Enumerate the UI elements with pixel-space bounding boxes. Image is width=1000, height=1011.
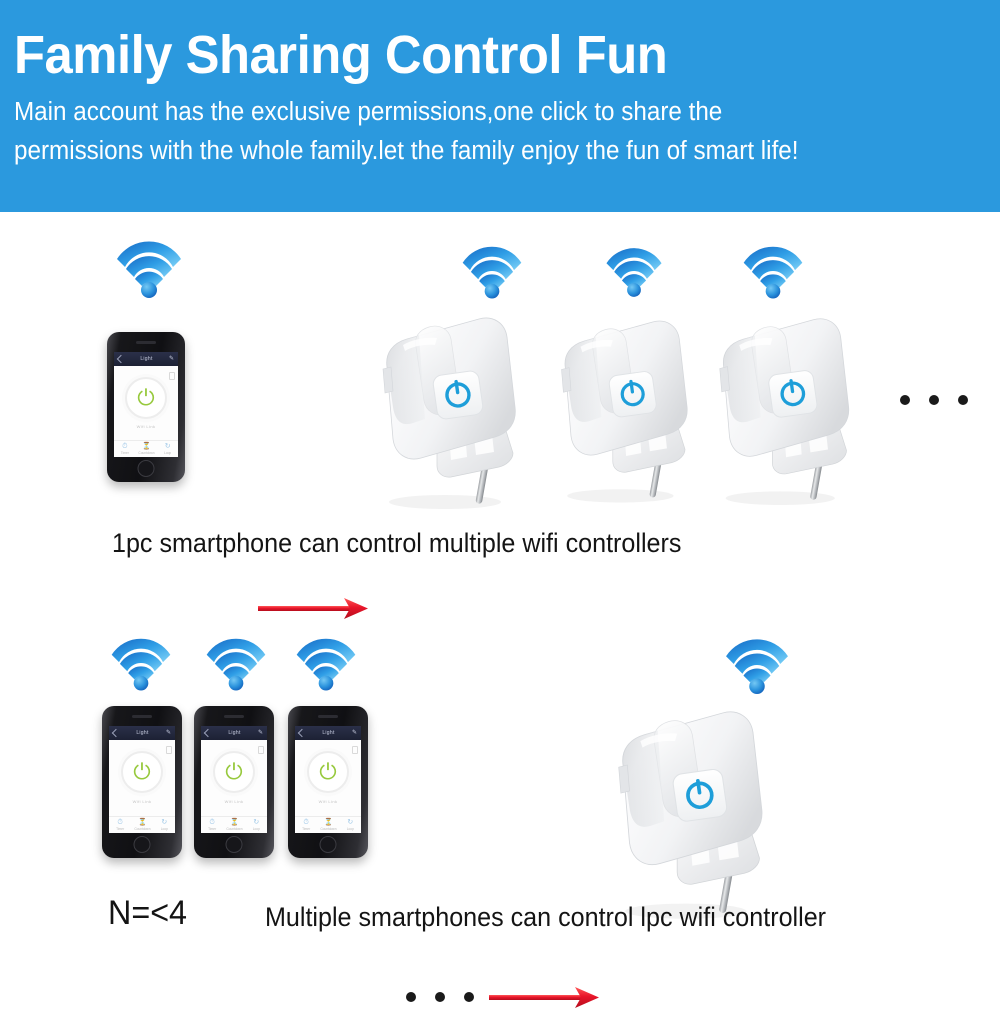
device-label: Wifi Link (137, 424, 156, 429)
phone-speaker (136, 341, 156, 344)
tab-timer[interactable]: ⏱ Timer (208, 819, 216, 831)
tab-loop[interactable]: ↻ Loop (161, 819, 168, 831)
section-bottom: Light ✎ ⏻ Wifi Link ⏱ Timer ⏳ (0, 620, 1000, 890)
tab-countdown[interactable]: ⏳ Countdown (134, 819, 150, 831)
red-arrow-right-icon (258, 596, 370, 622)
loop-icon: ↻ (161, 819, 167, 826)
smartphone-device[interactable]: Light ✎ ⏻ Wifi Link ⏱ Timer ⏳ (102, 706, 182, 858)
wifi-icon (603, 244, 665, 298)
power-icon: ⏻ (137, 387, 154, 409)
smart-plug-device[interactable] (373, 307, 533, 512)
smart-plug-device[interactable] (607, 700, 782, 922)
battery-icon (352, 746, 358, 754)
wifi-icon (293, 634, 359, 692)
tab-countdown[interactable]: ⏳ Countdown (138, 443, 154, 455)
tab-timer[interactable]: ⏱ Timer (302, 819, 310, 831)
app-topbar-title: Light (140, 356, 152, 362)
phone-screen[interactable]: Light ✎ ⏻ Wifi Link ⏱ Timer ⏳ (295, 726, 361, 833)
tab-label: Loop (161, 827, 168, 831)
header-subtitle-line-1: Main account has the exclusive permissio… (14, 94, 937, 131)
app-topbar-title: Light (136, 730, 148, 736)
app-body: ⏻ Wifi Link (295, 740, 361, 816)
app-topbar: Light ✎ (295, 726, 361, 740)
tab-label: Loop (347, 827, 354, 831)
pencil-icon[interactable]: ✎ (166, 729, 171, 736)
red-arrow-right-icon (489, 985, 601, 1011)
back-chevron-icon[interactable] (112, 729, 120, 737)
app-body: ⏻ Wifi Link (109, 740, 175, 816)
tab-label: Countdown (320, 827, 336, 831)
pencil-icon[interactable]: ✎ (352, 729, 357, 736)
tab-label: Loop (253, 827, 260, 831)
app-topbar: Light ✎ (201, 726, 267, 740)
timer-icon: ⏱ (209, 819, 214, 826)
power-toggle-button[interactable]: ⏻ (307, 751, 349, 793)
tab-countdown[interactable]: ⏳ Countdown (226, 819, 242, 831)
countdown-icon: ⏳ (230, 819, 239, 826)
app-topbar-title: Light (228, 730, 240, 736)
smartphone-device[interactable]: Light ✎ ⏻ Wifi Link ⏱ Timer ⏳ (107, 332, 185, 482)
tab-label: Countdown (138, 451, 154, 455)
phone-home-button[interactable] (134, 836, 151, 853)
smart-plug-device[interactable] (552, 309, 704, 507)
header-subtitle-line-2: permissions with the whole family.let th… (14, 133, 937, 170)
countdown-icon: ⏳ (324, 819, 333, 826)
tab-label: Loop (164, 451, 171, 455)
app-topbar-title: Light (322, 730, 334, 736)
battery-icon (258, 746, 264, 754)
tab-loop[interactable]: ↻ Loop (253, 819, 260, 831)
wifi-icon (740, 242, 806, 300)
phone-screen[interactable]: Light ✎ ⏻ Wifi Link ⏱ Timer ⏳ (114, 352, 178, 457)
app-tabbar: ⏱ Timer ⏳ Countdown ↻ Loop (201, 816, 267, 833)
power-icon: ⏻ (133, 761, 150, 783)
tab-label: Timer (208, 827, 216, 831)
tab-label: Timer (302, 827, 310, 831)
device-label: Wifi Link (133, 799, 152, 804)
phone-home-button[interactable] (320, 836, 337, 853)
phone-speaker (224, 715, 244, 718)
phone-speaker (132, 715, 152, 718)
pencil-icon[interactable]: ✎ (258, 729, 263, 736)
smartphone-device[interactable]: Light ✎ ⏻ Wifi Link ⏱ Timer ⏳ (194, 706, 274, 858)
app-tabbar: ⏱ Timer ⏳ Countdown ↻ Loop (295, 816, 361, 833)
app-topbar: Light ✎ (114, 352, 178, 366)
loop-icon: ↻ (165, 443, 171, 450)
back-chevron-icon[interactable] (204, 729, 212, 737)
timer-icon: ⏱ (122, 443, 127, 450)
phone-home-button[interactable] (226, 836, 243, 853)
wifi-icon (113, 237, 185, 299)
power-icon: ⏻ (225, 761, 242, 783)
app-body: ⏻ Wifi Link (114, 366, 178, 441)
app-tabbar: ⏱ Timer ⏳ Countdown ↻ Loop (109, 816, 175, 833)
wifi-icon (722, 635, 792, 695)
back-chevron-icon[interactable] (298, 729, 306, 737)
app-topbar: Light ✎ (109, 726, 175, 740)
phone-home-button[interactable] (138, 460, 155, 477)
section-top: Light ✎ ⏻ Wifi Link ⏱ Timer ⏳ (0, 212, 1000, 562)
battery-icon (166, 746, 172, 754)
device-label: Wifi Link (319, 799, 338, 804)
tab-timer[interactable]: ⏱ Timer (116, 819, 124, 831)
countdown-icon: ⏳ (138, 819, 147, 826)
pencil-icon[interactable]: ✎ (169, 355, 174, 362)
wifi-icon (108, 634, 174, 692)
tab-loop[interactable]: ↻ Loop (164, 443, 171, 455)
timer-icon: ⏱ (303, 819, 308, 826)
device-limit-label: N=<4 (108, 894, 187, 933)
device-label: Wifi Link (225, 799, 244, 804)
illustration-stage: Light ✎ ⏻ Wifi Link ⏱ Timer ⏳ (0, 212, 1000, 1000)
ellipsis-more-devices (900, 395, 968, 405)
back-chevron-icon[interactable] (117, 355, 125, 363)
tab-loop[interactable]: ↻ Loop (347, 819, 354, 831)
caption-bottom: Multiple smartphones can control lpc wif… (265, 902, 826, 933)
app-body: ⏻ Wifi Link (201, 740, 267, 816)
loop-icon: ↻ (347, 819, 353, 826)
smartphone-device[interactable]: Light ✎ ⏻ Wifi Link ⏱ Timer ⏳ (288, 706, 368, 858)
page-title: Family Sharing Control Fun (14, 26, 928, 84)
tab-countdown[interactable]: ⏳ Countdown (320, 819, 336, 831)
phone-screen[interactable]: Light ✎ ⏻ Wifi Link ⏱ Timer ⏳ (201, 726, 267, 833)
power-toggle-button[interactable]: ⏻ (125, 377, 167, 419)
tab-label: Timer (116, 827, 124, 831)
battery-icon (169, 372, 175, 380)
app-tabbar: ⏱ Timer ⏳ Countdown ↻ Loop (114, 440, 178, 457)
loop-icon: ↻ (253, 819, 259, 826)
power-icon: ⏻ (319, 761, 336, 783)
ellipsis-more-phones (406, 992, 474, 1002)
tab-label: Countdown (226, 827, 242, 831)
power-toggle-button[interactable]: ⏻ (121, 751, 163, 793)
header-banner: Family Sharing Control Fun Main account … (0, 0, 1000, 212)
tab-label: Timer (121, 451, 129, 455)
wifi-icon (459, 242, 525, 300)
wifi-icon (203, 634, 269, 692)
smart-plug-device[interactable] (710, 307, 866, 509)
phone-screen[interactable]: Light ✎ ⏻ Wifi Link ⏱ Timer ⏳ (109, 726, 175, 833)
tab-label: Countdown (134, 827, 150, 831)
timer-icon: ⏱ (117, 819, 122, 826)
power-toggle-button[interactable]: ⏻ (213, 751, 255, 793)
caption-top: 1pc smartphone can control multiple wifi… (112, 528, 681, 559)
tab-timer[interactable]: ⏱ Timer (121, 443, 129, 455)
countdown-icon: ⏳ (142, 443, 151, 450)
phone-speaker (318, 715, 338, 718)
